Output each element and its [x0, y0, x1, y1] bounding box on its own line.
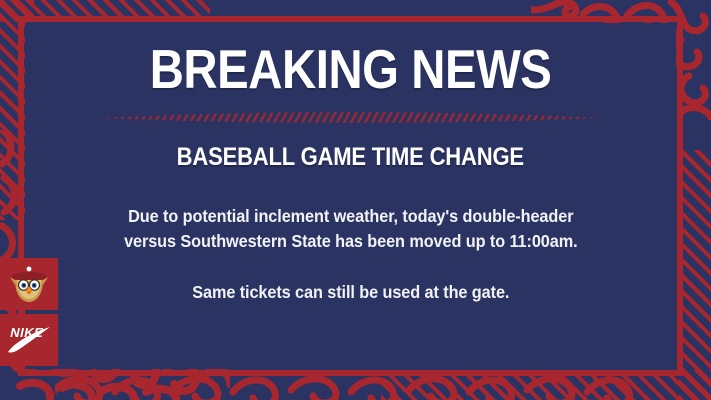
announcement-body: Due to potential inclement weather, toda…	[107, 204, 595, 305]
closing-line: Same tickets can still be used at the ga…	[124, 280, 577, 305]
hatch-divider-ornament	[98, 109, 604, 125]
spacer	[107, 254, 595, 280]
announcement-content: BREAKING NEWS BASEBALL GAME TIME CHANGE …	[25, 23, 676, 369]
breaking-news-graphic: BREAKING NEWS BASEBALL GAME TIME CHANGE …	[0, 0, 711, 400]
page-subtitle: BASEBALL GAME TIME CHANGE	[177, 143, 524, 172]
diagonal-stripe-pattern-icon	[679, 150, 711, 400]
body-line: versus Southwestern State has been moved…	[124, 229, 577, 254]
team-mascot-logo-plate	[0, 258, 58, 310]
page-title: BREAKING NEWS	[150, 41, 552, 97]
sponsor-logo-plate: NIKE	[0, 314, 58, 366]
body-line: Due to potential inclement weather, toda…	[124, 204, 577, 229]
team-mascot-owl-logo	[8, 264, 50, 304]
nike-logo: NIKE	[6, 323, 52, 357]
